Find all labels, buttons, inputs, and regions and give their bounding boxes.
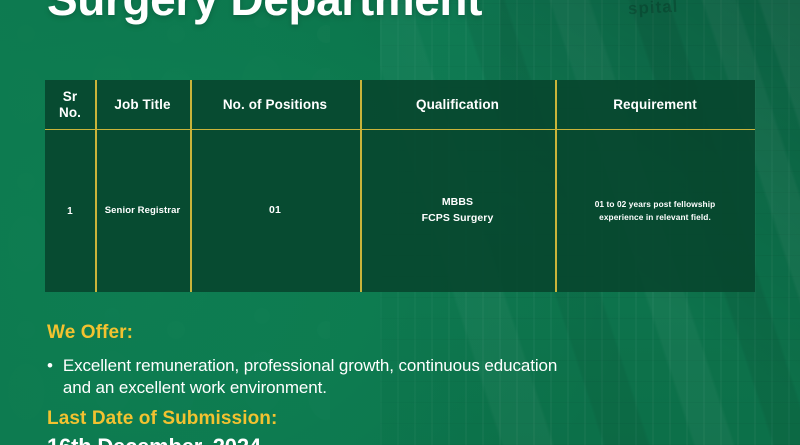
cell-qualification-line2: FCPS Surgery [422,211,494,227]
cell-requirement: 01 to 02 years post fellowship experienc… [555,130,755,292]
last-date-value: 16th December, 2024 [47,434,261,445]
column-header-requirement: Requirement [555,80,755,129]
list-item-text-line1: Excellent remuneration, professional gro… [63,356,557,375]
table-header-row: Sr No. Job Title No. of Positions Qualif… [45,80,755,130]
cell-positions: 01 [190,130,360,292]
cell-job-title: Senior Registrar [95,130,190,292]
cell-requirement-line2: experience in relevant field. [599,211,711,224]
list-item-text: Excellent remuneration, professional gro… [63,355,557,400]
jobs-table: Sr No. Job Title No. of Positions Qualif… [45,80,755,292]
cell-qualification: MBBS FCPS Surgery [360,130,555,292]
cell-sr-no: 1 [45,130,95,292]
list-item: • Excellent remuneration, professional g… [47,355,687,400]
we-offer-list: • Excellent remuneration, professional g… [47,355,687,400]
cell-qualification-line1: MBBS [442,195,473,211]
last-date-heading: Last Date of Submission: [47,408,277,430]
column-header-qualification: Qualification [360,80,555,129]
list-item-text-line2: and an excellent work environment. [63,378,327,397]
we-offer-heading: We Offer: [47,322,133,344]
table-row: 1 Senior Registrar 01 MBBS FCPS Surgery … [45,130,755,292]
page-title: Surgery Department [47,0,482,26]
column-header-sr-no: Sr No. [45,80,95,129]
cell-requirement-line1: 01 to 02 years post fellowship [595,198,716,211]
column-header-sr-no-line2: No. [59,105,81,120]
column-header-job-title: Job Title [95,80,190,129]
bullet-icon: • [47,355,53,400]
column-header-positions: No. of Positions [190,80,360,129]
column-header-sr-no-line1: Sr [63,89,77,104]
